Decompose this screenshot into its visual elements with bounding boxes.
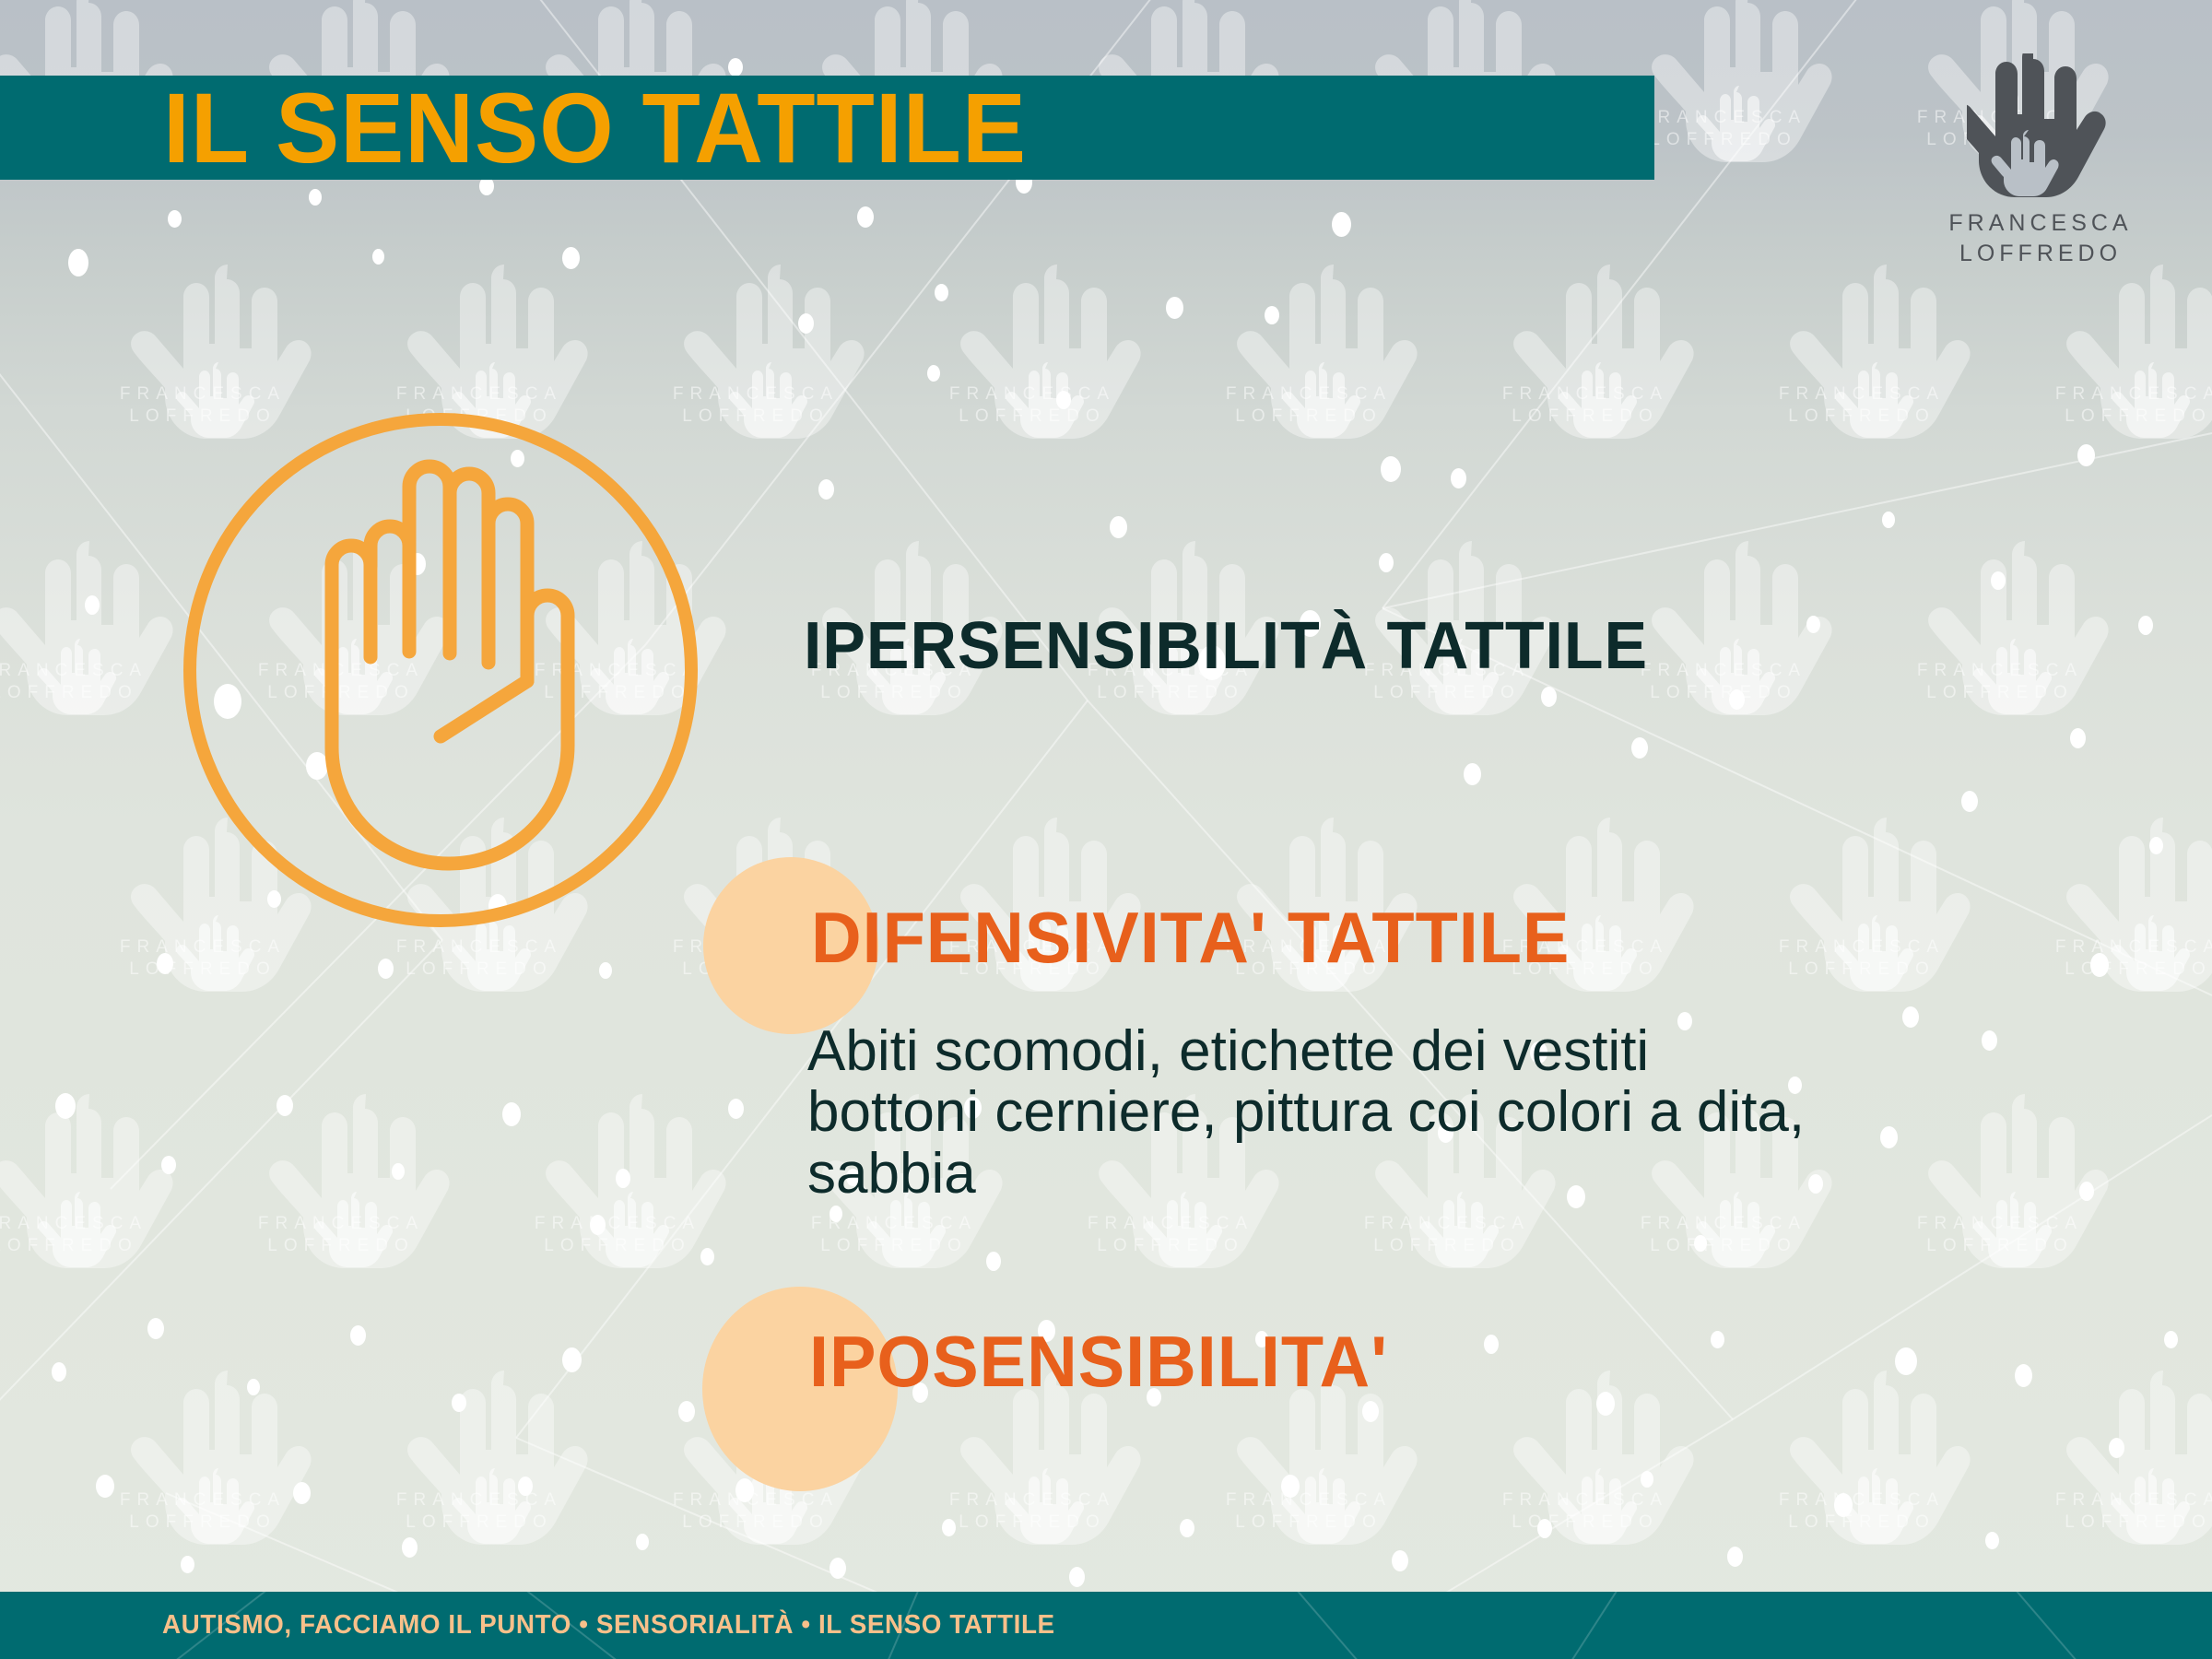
page-title: IL SENSO TATTILE bbox=[163, 70, 1027, 185]
footer-bar: AUTISMO, FACCIAMO IL PUNTO • SENSORIALIT… bbox=[0, 1592, 2212, 1659]
item-heading-iposensibilita: IPOSENSIBILITA' bbox=[809, 1320, 1388, 1404]
brand-logo: FRANCESCA LOFFREDO bbox=[1902, 53, 2179, 269]
hand-in-hand-logo-icon bbox=[1967, 53, 2114, 199]
footer-text: AUTISMO, FACCIAMO IL PUNTO • SENSORIALIT… bbox=[162, 1610, 1055, 1641]
section-heading-ipersensibilita: IPERSENSIBILITÀ TATTILE bbox=[804, 608, 1648, 684]
content-area: IPERSENSIBILITÀ TATTILE DIFENSIVITA' TAT… bbox=[0, 0, 2212, 1659]
slide-canvas: FRANCESCALOFFREDOFRANCESCALOFFREDOFRANCE… bbox=[0, 0, 2212, 1659]
item-heading-difensivita: DIFENSIVITA' TATTILE bbox=[811, 896, 1570, 980]
brand-name: FRANCESCA LOFFREDO bbox=[1902, 208, 2179, 269]
item-body-difensivita: Abiti scomodi, etichette dei vestiti bot… bbox=[807, 1021, 2116, 1205]
